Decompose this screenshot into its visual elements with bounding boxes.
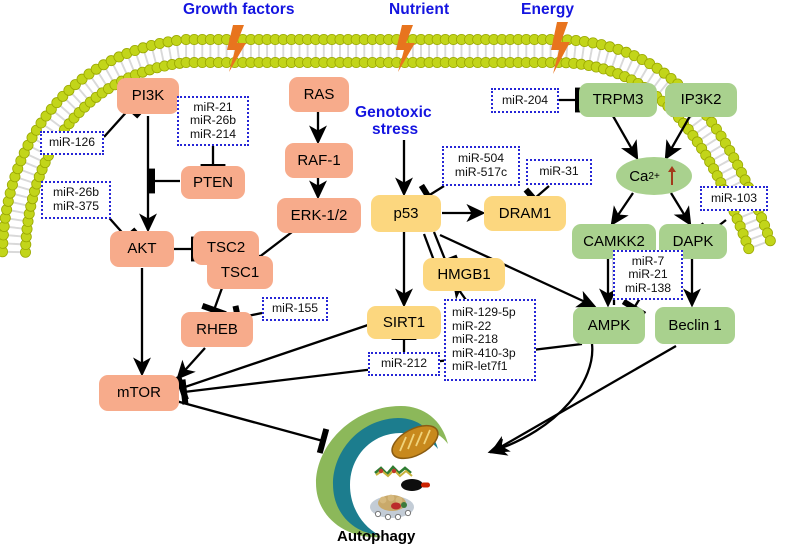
mirna-box-mir-126[interactable]: miR-126 [40,131,104,155]
mirna-line: miR-138 [625,282,671,296]
mirna-line: miR-517c [455,166,507,180]
mirna-line: miR-218 [452,333,498,347]
mirna-line: miR-let7f1 [452,360,508,374]
mirna-box-mir-31[interactable]: miR-31 [526,159,592,185]
node-tsc1[interactable]: TSC1 [207,256,273,289]
mirna-box-mir-155[interactable]: miR-155 [262,297,328,321]
edge-tsc1-inhibits-rheb [214,288,222,310]
calcium-up-arrow-icon [665,165,679,187]
mirna-line: miR-103 [711,192,757,206]
mirna-line: miR-31 [539,165,578,179]
mirna-line: miR-504 [458,152,504,166]
node-akt[interactable]: AKT [110,231,174,267]
mirna-box-hmgb1-set[interactable]: miR-129-5p miR-22 miR-218 miR-410-3p miR… [444,299,536,381]
node-ras[interactable]: RAS [289,77,349,112]
node-erk12[interactable]: ERK-1/2 [277,198,361,233]
mirna-box-pten-set[interactable]: miR-21 miR-26b miR-214 [177,96,249,146]
edge-rheb-activates-mtor [178,348,205,378]
mirna-line: miR-214 [190,128,236,142]
mirna-line: miR-21 [628,268,667,282]
mirna-line: miR-22 [452,320,491,334]
autophagy-label: Autophagy [337,528,415,545]
node-pi3k[interactable]: PI3K [117,78,179,114]
edge-calcium-activates-camkk2 [612,193,633,224]
node-rheb[interactable]: RHEB [181,312,253,347]
node-calcium[interactable]: Ca2+ [616,157,692,195]
mirna-line: miR-204 [502,94,548,108]
mirna-box-mir-103[interactable]: miR-103 [700,186,768,211]
node-dram1[interactable]: DRAM1 [484,196,566,231]
mirna-line: miR-129-5p [452,306,516,320]
mirna-line: miR-26b [53,186,99,200]
mirna-box-ampk-set[interactable]: miR-7 miR-21 miR-138 [613,250,683,300]
node-ampk[interactable]: AMPK [573,307,645,344]
mirna-line: miR-7 [632,255,665,269]
mirna-line: miR-126 [49,136,95,150]
edge-mtor-inhibits-autophagy [176,401,323,441]
mirna-line: miR-212 [381,357,427,371]
node-hmgb1[interactable]: HMGB1 [423,258,505,291]
mirna-box-akt-set[interactable]: miR-26b miR-375 [41,181,111,219]
edge-erk-inhibits-tsc1 [258,232,292,258]
mirna-line: miR-21 [193,101,232,115]
node-ip3k2[interactable]: IP3K2 [665,83,737,117]
node-beclin1[interactable]: Beclin 1 [655,307,735,344]
calcium-charge: 2+ [648,171,659,182]
calcium-label: Ca [629,168,648,185]
edge-calcium-activates-dapk [671,193,690,224]
mirna-line: miR-375 [53,200,99,214]
mirna-line: miR-26b [190,114,236,128]
node-raf1[interactable]: RAF-1 [285,143,353,178]
edge-trpm3-activates-calcium [613,116,637,158]
node-mtor[interactable]: mTOR [99,375,179,411]
pathway-diagram: Growth factors Nutrient Energy Genotoxic… [0,0,796,551]
mirna-line: miR-155 [272,302,318,316]
mirna-line: miR-410-3p [452,347,516,361]
mirna-box-mir-212[interactable]: miR-212 [368,352,440,376]
node-sirt1[interactable]: SIRT1 [367,306,441,339]
mirna-box-mir-204[interactable]: miR-204 [491,88,559,113]
node-p53[interactable]: p53 [371,195,441,232]
autophagosome-illustration [316,406,448,537]
node-trpm3[interactable]: TRPM3 [579,83,657,117]
mirna-box-p53-set[interactable]: miR-504 miR-517c [442,146,520,186]
node-pten[interactable]: PTEN [181,166,245,199]
